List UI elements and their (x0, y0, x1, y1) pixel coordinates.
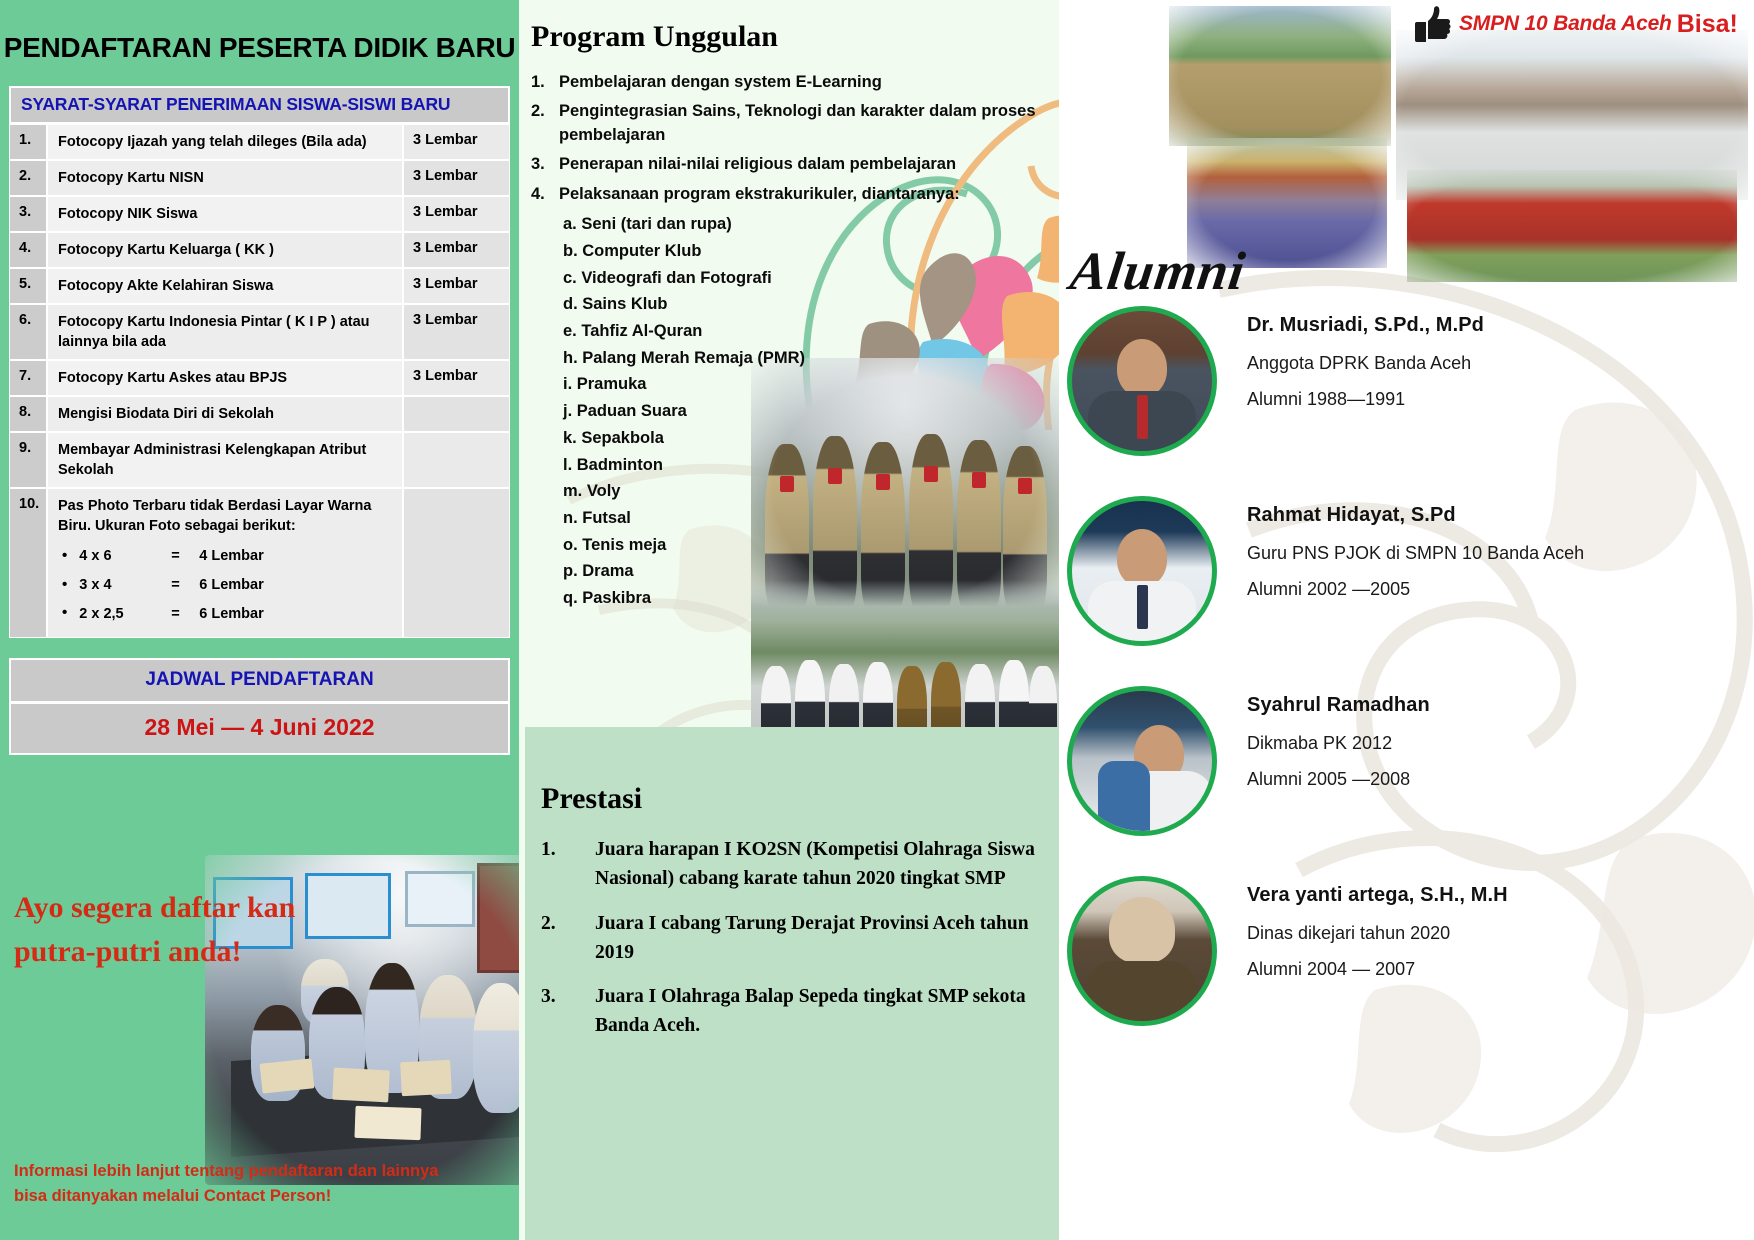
alumni-details: Vera yanti artega, S.H., M.H Dinas dikej… (1217, 870, 1754, 980)
row-qty: 3 Lembar (404, 233, 509, 267)
table-row: 3. Fotocopy NIK Siswa 3 Lembar (10, 195, 509, 231)
row-text: Fotocopy Kartu NISN (48, 161, 404, 195)
list-item: l. Badminton (563, 452, 1059, 479)
scouts-trophy-photo (1169, 6, 1391, 146)
row-number: 1. (10, 125, 48, 159)
item-text: Juara I Olahraga Balap Sepeda tingkat SM… (595, 983, 1049, 1041)
cta-line-1: Ayo segera daftar kan (14, 886, 314, 930)
table-row: 9. Membayar Administrasi Kelengkapan Atr… (10, 431, 509, 487)
photo-size-list: 4 x 6 = 4 Lembar 3 x 4 = 6 Lembar 2 x 2,… (62, 542, 396, 628)
list-item: 1. Juara harapan I KO2SN (Kompetisi Olah… (541, 836, 1049, 910)
paper-shape (400, 1060, 452, 1097)
list-item: Rahmat Hidayat, S.Pd Guru PNS PJOK di SM… (1067, 490, 1754, 680)
photo-qty: 6 Lembar (199, 575, 263, 595)
row-qty: 3 Lembar (404, 269, 509, 303)
left-panel: PENDAFTARAN PESERTA DIDIK BARU SYARAT-SY… (0, 0, 519, 1240)
avatar (1067, 496, 1217, 646)
requirements-header: SYARAT-SYARAT PENERIMAAN SISWA-SISWI BAR… (10, 87, 509, 123)
soccer-team-photo (1407, 170, 1737, 282)
list-item: Dr. Musriadi, S.Pd., M.Pd Anggota DPRK B… (1067, 300, 1754, 490)
row-number: 5. (10, 269, 48, 303)
row-number: 9. (10, 433, 48, 487)
table-row: 5. Fotocopy Akte Kelahiran Siswa 3 Lemba… (10, 267, 509, 303)
page-title: PENDAFTARAN PESERTA DIDIK BARU (0, 0, 519, 86)
uniform-shape (1088, 961, 1196, 1026)
contact-info-text: Informasi lebih lanjut tentang pendaftar… (14, 1159, 484, 1210)
table-row-photo: 10. Pas Photo Terbaru tidak Berdasi Laya… (10, 487, 509, 637)
row-number: 3. (10, 197, 48, 231)
row-number: 8. (10, 397, 48, 431)
photo-qty: 4 Lembar (199, 546, 263, 566)
equals-sign: = (171, 575, 199, 595)
alumni-details: Syahrul Ramadhan Dikmaba PK 2012 Alumni … (1217, 680, 1754, 790)
schedule-date: 28 Mei — 4 Juni 2022 (10, 702, 509, 754)
row-qty: 3 Lembar (404, 305, 509, 359)
list-item: 4 x 6 = 4 Lembar (62, 542, 396, 571)
photo-dimension: 2 x 2,5 (79, 604, 171, 624)
alumni-name: Vera yanti artega, S.H., M.H (1247, 884, 1747, 907)
avatar (1067, 306, 1217, 456)
alumni-details: Dr. Musriadi, S.Pd., M.Pd Anggota DPRK B… (1217, 300, 1754, 410)
list-item: 4. Pelaksanaan program ekstrakurikuler, … (531, 180, 1059, 209)
row-qty: 3 Lembar (404, 361, 509, 395)
list-item: 3 x 4 = 6 Lembar (62, 571, 396, 600)
row-number: 2. (10, 161, 48, 195)
alumni-role: Guru PNS PJOK di SMPN 10 Banda Aceh (1247, 541, 1747, 565)
item-number: 3. (531, 153, 559, 176)
item-number: 3. (541, 983, 595, 1041)
brochure-page: PENDAFTARAN PESERTA DIDIK BARU SYARAT-SY… (0, 0, 1754, 1240)
alumni-name: Syahrul Ramadhan (1247, 694, 1747, 717)
avatar (1067, 686, 1217, 836)
row-qty (404, 433, 509, 487)
list-item: h. Palang Merah Remaja (PMR) (563, 345, 1059, 372)
row-qty: 3 Lembar (404, 197, 509, 231)
tie-shape (1137, 395, 1148, 439)
list-item: b. Computer Klub (563, 238, 1059, 265)
call-to-action-text: Ayo segera daftar kan putra-putri anda! (14, 886, 314, 973)
alumni-years: Alumni 2005 —2008 (1247, 769, 1747, 790)
table-row: 6. Fotocopy Kartu Indonesia Pintar ( K I… (10, 303, 509, 359)
registration-schedule-box: JADWAL PENDAFTARAN 28 Mei — 4 Juni 2022 (9, 658, 510, 755)
achievements-title: Prestasi (535, 782, 1049, 828)
row-qty: 3 Lembar (404, 161, 509, 195)
right-panel: SMPN 10 Banda Aceh Bisa! Alumni Dr. Musr… (1059, 0, 1754, 1240)
item-text: Juara I cabang Tarung Derajat Provinsi A… (595, 910, 1049, 968)
row-text: Fotocopy Ijazah yang telah dileges (Bila… (48, 125, 404, 159)
item-number: 1. (541, 836, 595, 894)
achievements-box: Prestasi 1. Juara harapan I KO2SN (Kompe… (525, 727, 1059, 1240)
school-slogan: SMPN 10 Banda Aceh Bisa! (1411, 4, 1738, 44)
list-item: j. Paduan Suara (563, 398, 1059, 425)
list-item: c. Videografi dan Fotografi (563, 265, 1059, 292)
list-item: 1. Pembelajaran dengan system E-Learning (531, 68, 1059, 97)
list-item: 3. Penerapan nilai-nilai religious dalam… (531, 150, 1059, 179)
row-text: Pas Photo Terbaru tidak Berdasi Layar Wa… (58, 496, 396, 536)
list-item: i. Pramuka (563, 371, 1059, 398)
row-qty (404, 397, 509, 431)
row-number: 4. (10, 233, 48, 267)
item-number: 4. (531, 183, 559, 206)
row-text: Fotocopy Kartu Keluarga ( KK ) (48, 233, 404, 267)
tie-shape (1137, 585, 1148, 629)
list-item: 2 x 2,5 = 6 Lembar (62, 599, 396, 628)
slogan-emphasis-text: Bisa! (1677, 10, 1738, 39)
paper-shape (332, 1068, 390, 1103)
row-number: 10. (10, 489, 48, 637)
alumni-name: Rahmat Hidayat, S.Pd (1247, 504, 1747, 527)
list-item: n. Futsal (563, 505, 1059, 532)
face-shape (1117, 529, 1167, 587)
table-row: 2. Fotocopy Kartu NISN 3 Lembar (10, 159, 509, 195)
info-line-2: bisa ditanyakan melalui Contact Person! (14, 1184, 484, 1210)
row-text: Membayar Administrasi Kelengkapan Atribu… (48, 433, 404, 487)
item-number: 2. (531, 100, 559, 147)
table-row: 8. Mengisi Biodata Diri di Sekolah (10, 395, 509, 431)
extracurricular-list: a. Seni (tari dan rupa) b. Computer Klub… (563, 211, 1059, 612)
alumni-role: Dikmaba PK 2012 (1247, 731, 1747, 755)
row-number: 7. (10, 361, 48, 395)
alumni-years: Alumni 1988—1991 (1247, 389, 1747, 410)
list-item: o. Tenis meja (563, 532, 1059, 559)
alumni-role: Dinas dikejari tahun 2020 (1247, 921, 1747, 945)
avatar (1067, 876, 1217, 1026)
item-text: Juara harapan I KO2SN (Kompetisi Olahrag… (595, 836, 1049, 894)
row-number: 6. (10, 305, 48, 359)
list-item: p. Drama (563, 558, 1059, 585)
list-item: 3. Juara I Olahraga Balap Sepeda tingkat… (541, 983, 1049, 1057)
alumni-years: Alumni 2004 — 2007 (1247, 959, 1747, 980)
row-text: Mengisi Biodata Diri di Sekolah (48, 397, 404, 431)
program-list: 1. Pembelajaran dengan system E-Learning… (531, 68, 1059, 209)
alumni-name: Dr. Musriadi, S.Pd., M.Pd (1247, 314, 1747, 337)
row-text: Fotocopy Akte Kelahiran Siswa (48, 269, 404, 303)
face-shape (1117, 339, 1167, 397)
item-text: Pelaksanaan program ekstrakurikuler, dia… (559, 183, 1059, 206)
achievements-list: 1. Juara harapan I KO2SN (Kompetisi Olah… (541, 836, 1049, 1057)
item-text: Pembelajaran dengan system E-Learning (559, 71, 1059, 94)
list-item: a. Seni (tari dan rupa) (563, 211, 1059, 238)
row-text: Fotocopy NIK Siswa (48, 197, 404, 231)
equals-sign: = (171, 604, 199, 624)
alumni-list: Dr. Musriadi, S.Pd., M.Pd Anggota DPRK B… (1067, 300, 1754, 1060)
list-item: e. Tahfiz Al-Quran (563, 318, 1059, 345)
list-item: d. Sains Klub (563, 291, 1059, 318)
student-figure (473, 983, 519, 1113)
row-text-container: Pas Photo Terbaru tidak Berdasi Layar Wa… (48, 489, 404, 637)
paper-shape (354, 1106, 421, 1140)
equals-sign: = (171, 546, 199, 566)
cta-line-2: putra-putri anda! (14, 930, 314, 974)
schedule-header: JADWAL PENDAFTARAN (10, 659, 509, 702)
alumni-details: Rahmat Hidayat, S.Pd Guru PNS PJOK di SM… (1217, 490, 1754, 600)
hijab-shape (1109, 897, 1175, 963)
item-number: 1. (531, 71, 559, 94)
middle-panel: Program Unggulan 1. Pembelajaran dengan … (519, 0, 1059, 1240)
item-text: Pengintegrasian Sains, Teknologi dan kar… (559, 100, 1059, 147)
body-shape (1098, 761, 1150, 836)
alumni-title: Alumni (1067, 240, 1250, 302)
list-item: k. Sepakbola (563, 425, 1059, 452)
list-item: q. Paskibra (563, 585, 1059, 612)
table-row: 1. Fotocopy Ijazah yang telah dileges (B… (10, 123, 509, 159)
row-text: Fotocopy Kartu Askes atau BPJS (48, 361, 404, 395)
info-line-1: Informasi lebih lanjut tentang pendaftar… (14, 1159, 484, 1185)
list-item: 2. Pengintegrasian Sains, Teknologi dan … (531, 97, 1059, 150)
list-item: Syahrul Ramadhan Dikmaba PK 2012 Alumni … (1067, 680, 1754, 870)
photo-qty: 6 Lembar (199, 604, 263, 624)
row-text: Fotocopy Kartu Indonesia Pintar ( K I P … (48, 305, 404, 359)
list-item: Vera yanti artega, S.H., M.H Dinas dikej… (1067, 870, 1754, 1060)
alumni-years: Alumni 2002 —2005 (1247, 579, 1747, 600)
thumbs-up-icon (1411, 4, 1453, 44)
alumni-role: Anggota DPRK Banda Aceh (1247, 351, 1747, 375)
item-text: Penerapan nilai-nilai religious dalam pe… (559, 153, 1059, 176)
list-item: m. Voly (563, 478, 1059, 505)
requirements-table: SYARAT-SYARAT PENERIMAAN SISWA-SISWI BAR… (9, 86, 510, 638)
row-qty (404, 489, 509, 637)
slogan-main-text: SMPN 10 Banda Aceh (1459, 12, 1672, 36)
table-row: 4. Fotocopy Kartu Keluarga ( KK ) 3 Lemb… (10, 231, 509, 267)
window-shape (305, 873, 391, 939)
program-title: Program Unggulan (519, 0, 1059, 68)
table-row: 7. Fotocopy Kartu Askes atau BPJS 3 Lemb… (10, 359, 509, 395)
photo-dimension: 3 x 4 (79, 575, 171, 595)
photo-dimension: 4 x 6 (79, 546, 171, 566)
window-shape (405, 871, 475, 927)
row-qty: 3 Lembar (404, 125, 509, 159)
item-number: 2. (541, 910, 595, 968)
paper-shape (260, 1058, 315, 1093)
door-shape (477, 863, 519, 973)
list-item: 2. Juara I cabang Tarung Derajat Provins… (541, 910, 1049, 984)
